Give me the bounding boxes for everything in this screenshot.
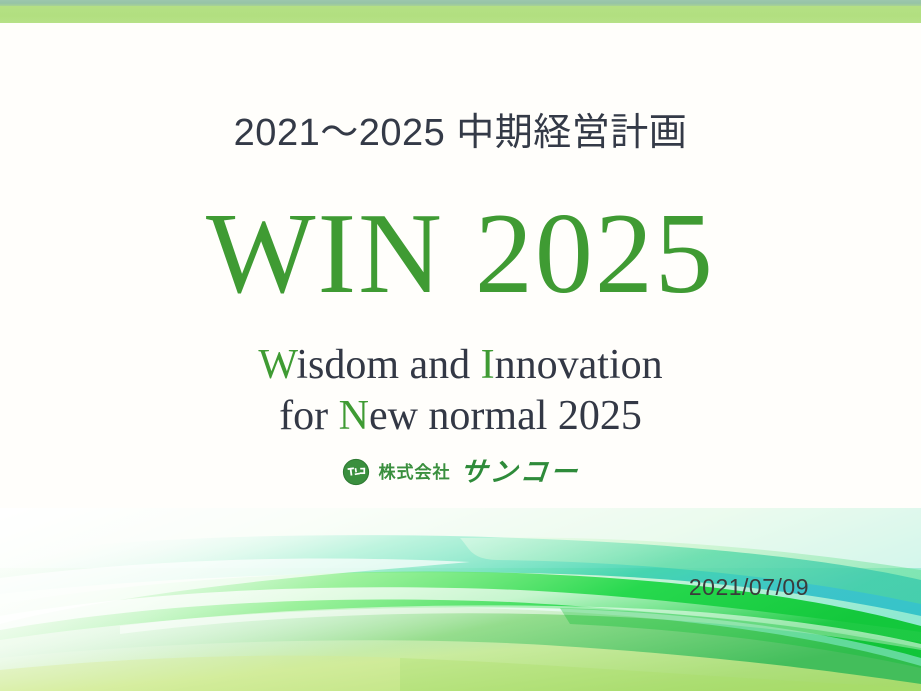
- tagline-1-mid: isdom and: [296, 342, 480, 388]
- tagline-2-cap-n: N: [339, 393, 369, 439]
- title-slide: 2021～2025 中期経営計画 WIN 2025 Wisdom and Inn…: [0, 0, 921, 691]
- tagline-2-head: for: [279, 393, 338, 439]
- tagline-line-2: for New normal 2025: [0, 395, 921, 437]
- hero-headline: WIN 2025: [0, 196, 921, 312]
- tagline-2-tail: ew normal 2025: [369, 393, 642, 439]
- logo-company-prefix: 株式会社: [379, 464, 451, 481]
- document-title: 2021～2025 中期経営計画: [0, 101, 921, 156]
- company-logo-lockup: 株式会社 サンコー: [0, 458, 921, 486]
- tagline-1-cap-i: I: [481, 342, 495, 388]
- sanko-circle-logo-icon: [342, 458, 370, 486]
- date-stamp: 2021/07/09: [0, 574, 921, 601]
- tagline-line-1: Wisdom and Innovation: [0, 344, 921, 386]
- tagline-1-tail: nnovation: [495, 342, 663, 388]
- tagline-1-cap-w: W: [258, 342, 296, 388]
- logo-brand-name: サンコー: [458, 459, 581, 486]
